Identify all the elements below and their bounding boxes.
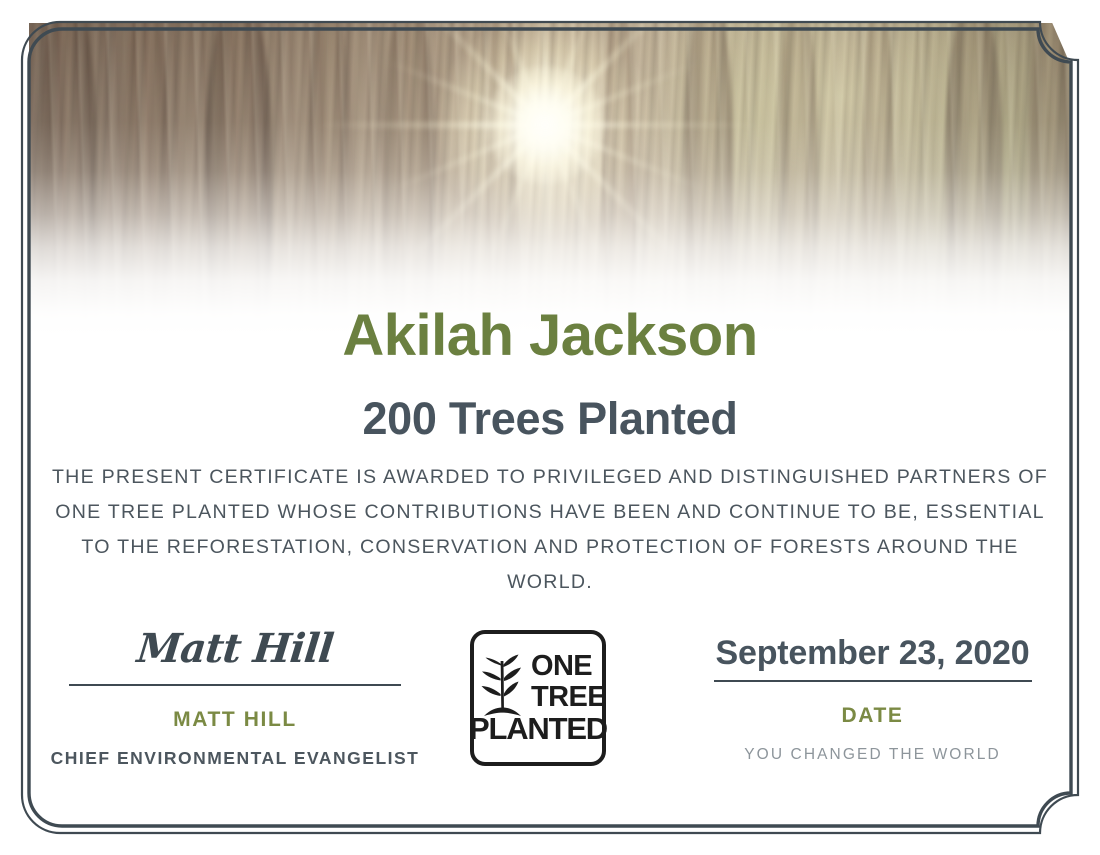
signature-rule — [69, 684, 401, 686]
sapling-icon — [482, 655, 522, 717]
date-block: September 23, 2020 Date You changed the … — [685, 620, 1060, 764]
certificate-footer: Matt Hill Matt Hill Chief Environmental … — [30, 620, 1070, 800]
date-value: September 23, 2020 — [685, 620, 1060, 678]
certificate: Akilah Jackson 200 Trees Planted The pre… — [0, 0, 1100, 855]
signature-block: Matt Hill Matt Hill Chief Environmental … — [40, 620, 430, 769]
logo-line-1: ONE — [531, 650, 592, 682]
signer-name: Matt Hill — [40, 708, 430, 732]
date-rule — [714, 680, 1032, 682]
logo-line-2: TREE — [531, 681, 606, 713]
logo-svg: ONE TREE PLANTED — [468, 628, 608, 768]
one-tree-planted-logo: ONE TREE PLANTED — [468, 628, 608, 768]
signer-title: Chief Environmental Evangelist — [40, 748, 430, 769]
award-line: 200 Trees Planted — [30, 396, 1070, 441]
date-label: Date — [685, 704, 1060, 728]
signature-script: Matt Hill — [37, 620, 433, 678]
logo-line-3: PLANTED — [469, 711, 608, 746]
certificate-content: Akilah Jackson 200 Trees Planted The pre… — [30, 24, 1070, 831]
citation-text: The present certificate is awarded to pr… — [48, 460, 1052, 600]
recipient-name: Akilah Jackson — [30, 307, 1070, 365]
logo-block: ONE TREE PLANTED — [460, 620, 640, 768]
date-tagline: You changed the world — [685, 746, 1060, 764]
